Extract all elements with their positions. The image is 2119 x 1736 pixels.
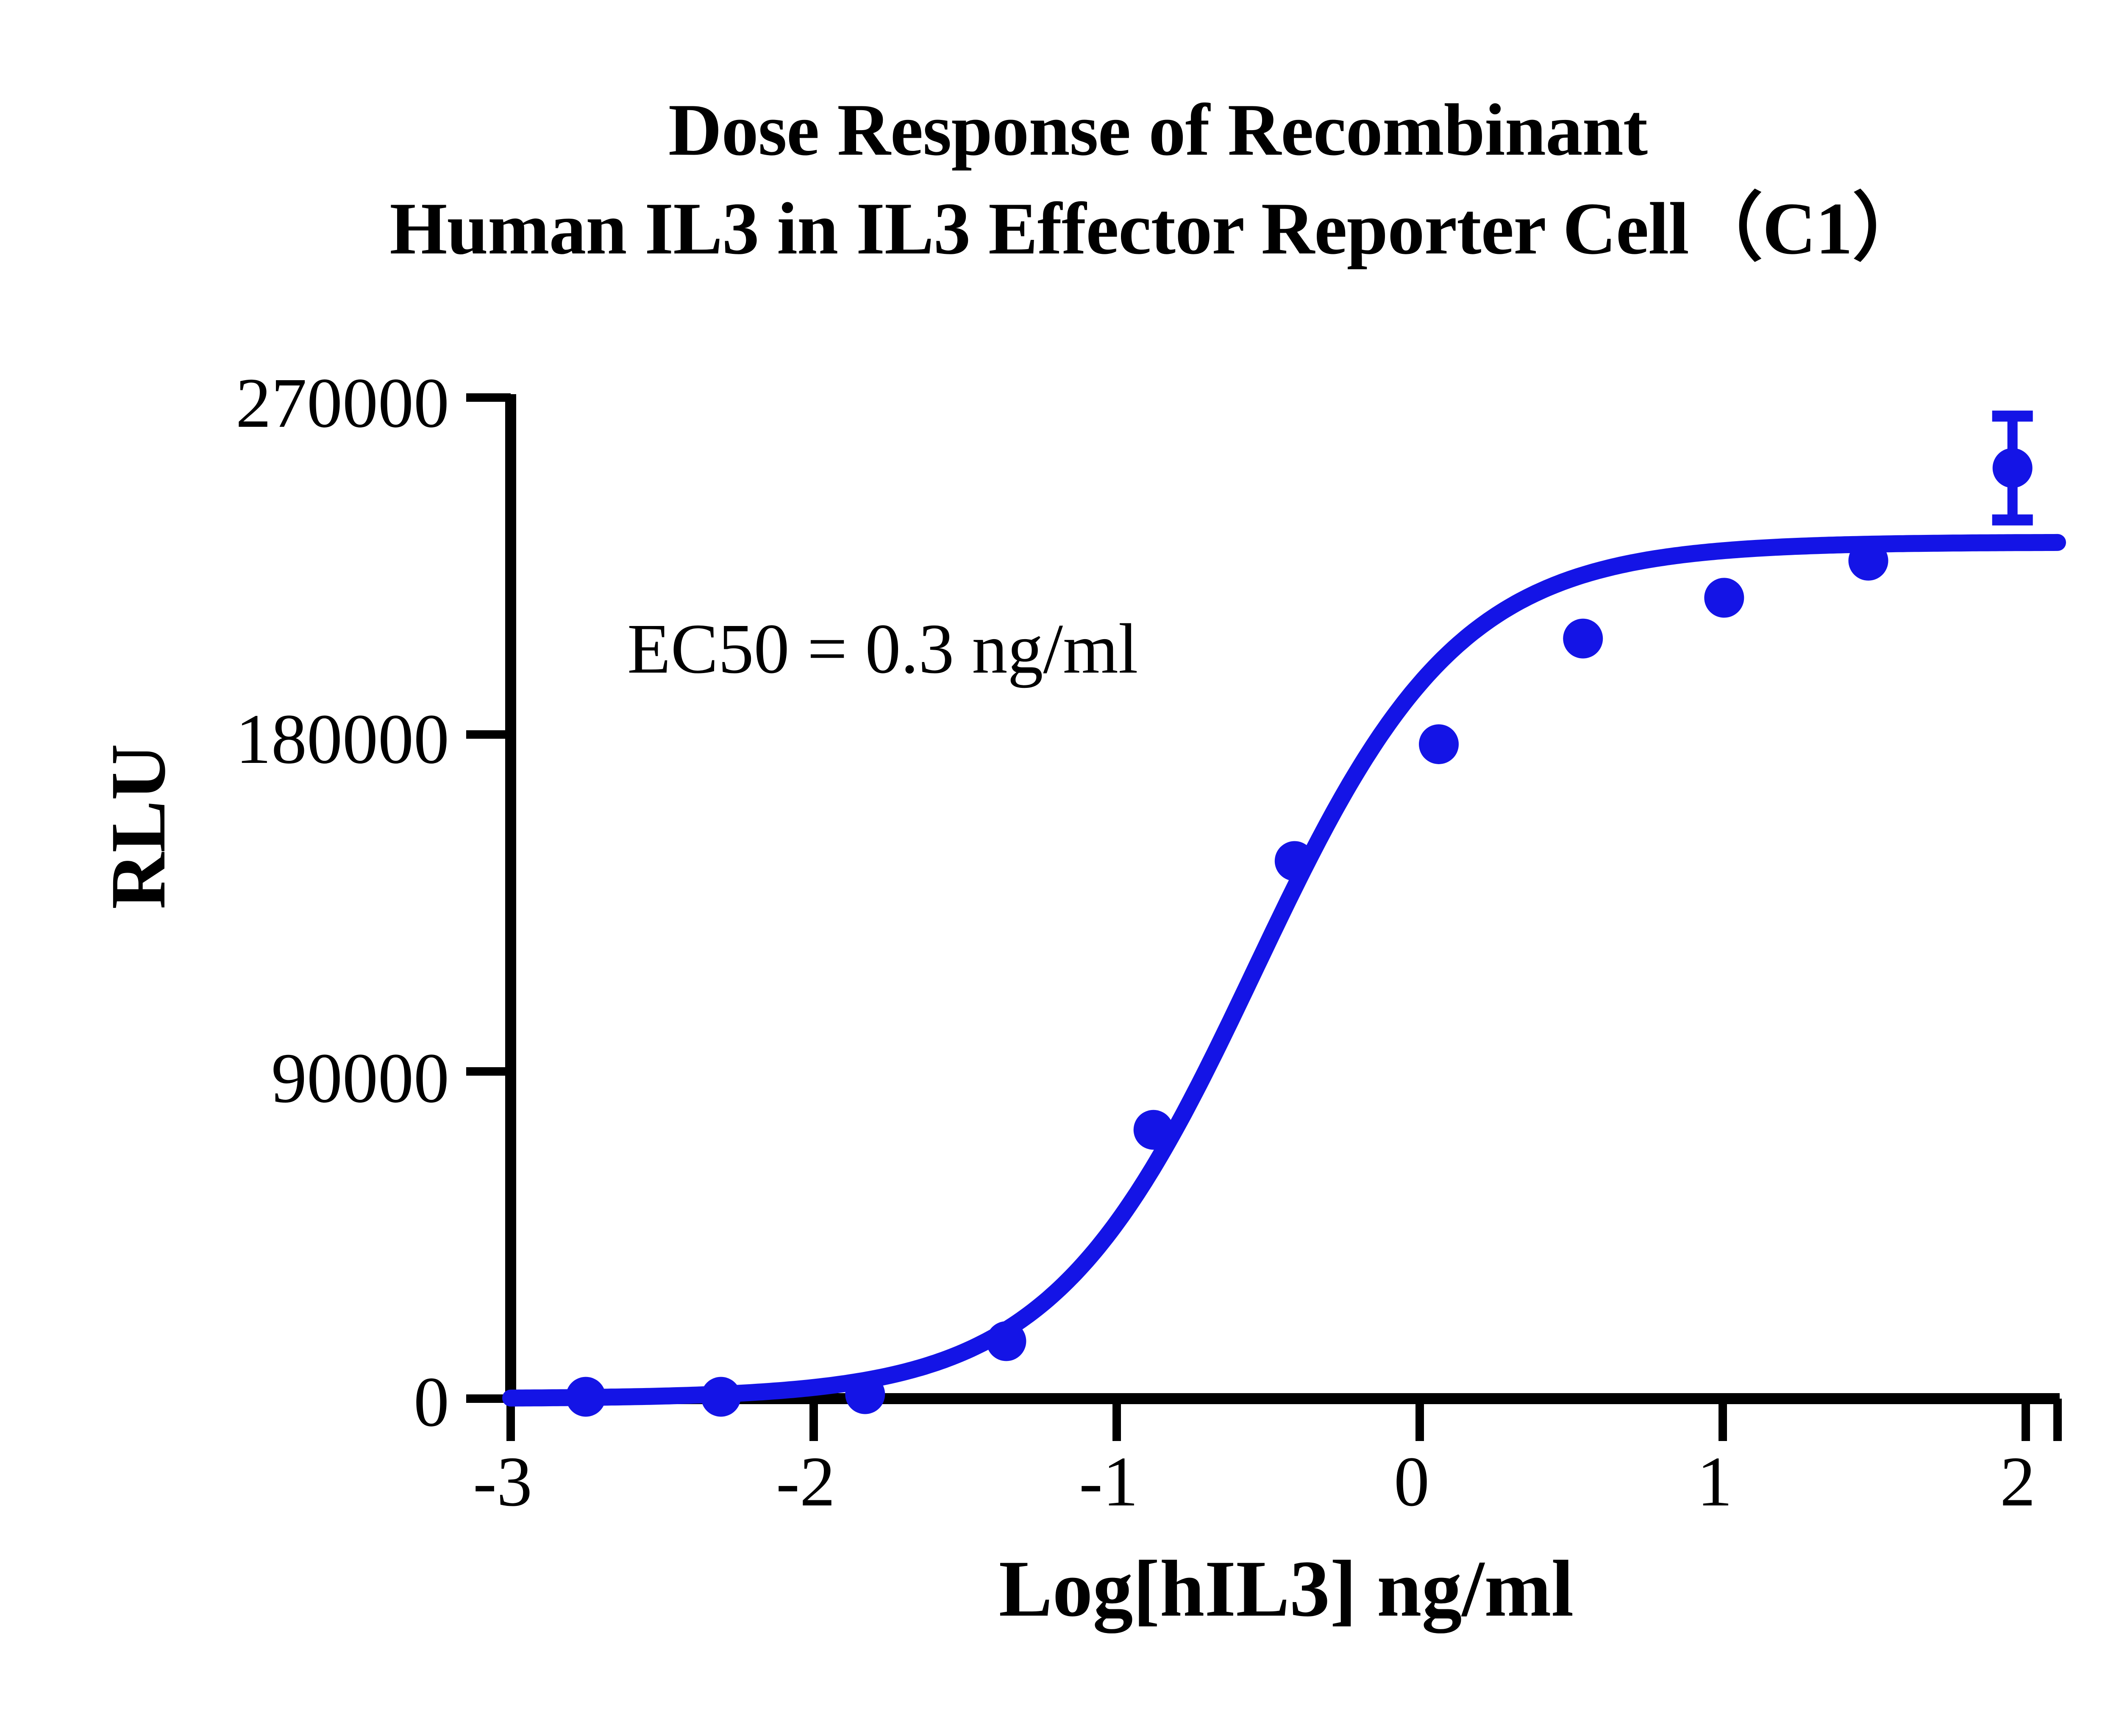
data-point-marker	[986, 1321, 1026, 1361]
data-point-marker	[1563, 619, 1603, 659]
y-axis-ticks	[466, 398, 511, 1399]
data-point-marker	[1704, 578, 1744, 618]
data-point-marker	[701, 1377, 741, 1417]
x-axis-ticks	[511, 1399, 2058, 1441]
chart-figure: Dose Response of Recombinant Human IL3 i…	[0, 0, 2119, 1736]
plot-canvas	[0, 0, 2119, 1736]
data-point-marker	[1993, 448, 2033, 488]
data-point-marker	[1275, 841, 1315, 881]
data-point-marker	[566, 1377, 606, 1417]
data-point-marker	[1419, 724, 1459, 764]
fit-curve	[511, 542, 2058, 1398]
data-point-marker	[1848, 541, 1888, 581]
data-point-series	[566, 416, 2033, 1417]
data-point-marker	[845, 1374, 885, 1414]
data-point-marker	[1134, 1110, 1174, 1150]
